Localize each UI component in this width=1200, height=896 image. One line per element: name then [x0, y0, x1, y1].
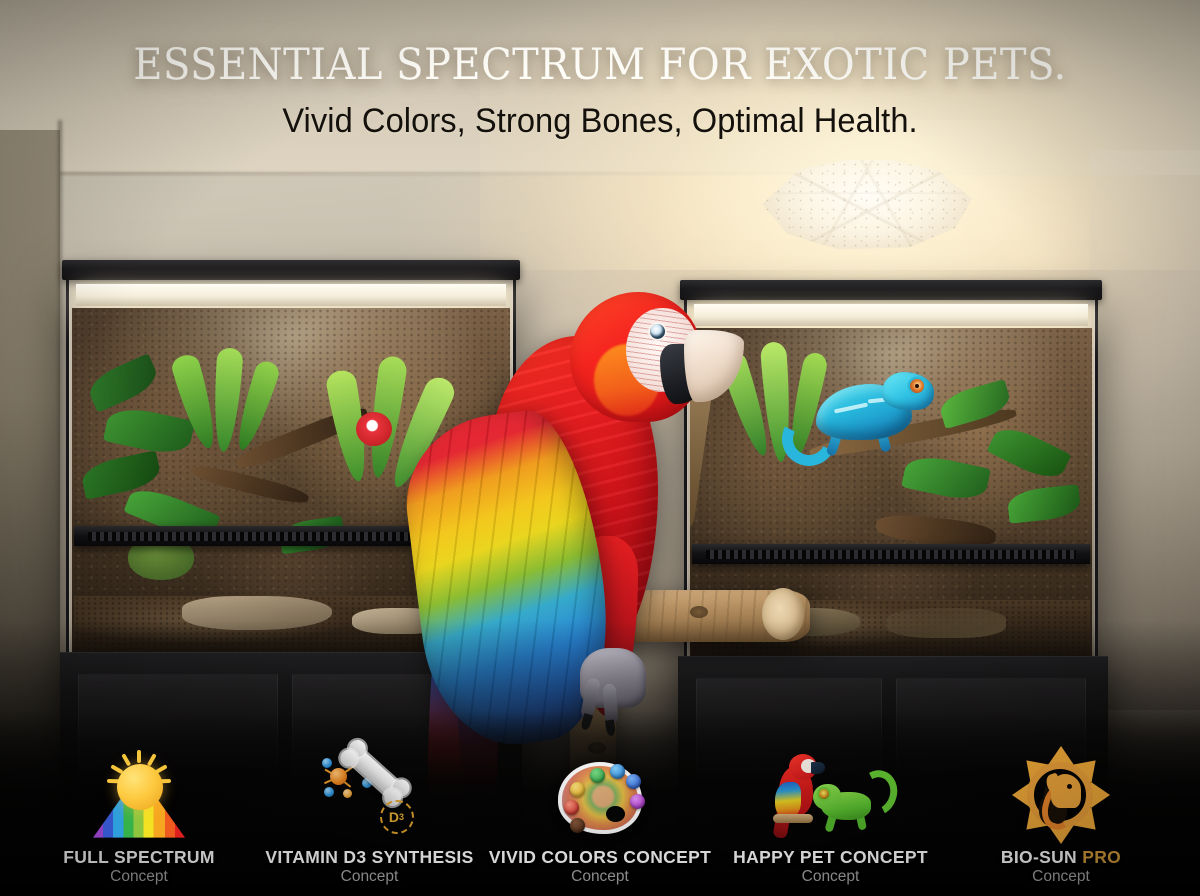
gecko-icon: [813, 774, 891, 836]
d3-badge: D3: [380, 800, 414, 834]
poster-stage: ESSENTIAL SPECTRUM FOR EXOTIC PETS. Vivi…: [0, 0, 1200, 896]
feature-subtitle: Concept: [948, 868, 1174, 886]
feature-title: BIO-SUN PRO: [948, 848, 1174, 866]
feature-subtitle: Concept: [718, 868, 944, 886]
paint-blob-green: [590, 768, 605, 783]
macaw-eye: [650, 324, 665, 339]
feature-full-spectrum[interactable]: FULL SPECTRUM Concept: [26, 746, 252, 886]
lamp-speckles: [762, 160, 972, 252]
brand-name: BIO-SUN: [1001, 847, 1082, 867]
sun-disc: [117, 764, 163, 810]
bromeliad-flower: [356, 412, 392, 446]
parrot-perch: [773, 814, 813, 823]
paint-blob-indigo: [626, 774, 641, 789]
right-terrarium-lamp-strip: [694, 304, 1088, 326]
logo-dog-eye: [1067, 784, 1072, 789]
gecko-eye: [819, 789, 829, 799]
feature-title: HAPPY PET CONCEPT: [718, 848, 944, 866]
feature-icon-slot: [26, 746, 252, 842]
paint-blob-magenta: [630, 794, 645, 809]
page-subtitle: Vivid Colors, Strong Bones, Optimal Heal…: [24, 102, 1176, 141]
palette-thumb-hole: [606, 806, 625, 822]
feature-vivid-colors[interactable]: VIVID COLORS CONCEPT Concept: [487, 746, 713, 886]
feature-happy-pet[interactable]: HAPPY PET CONCEPT Concept: [718, 746, 944, 886]
feature-icon-slot: [948, 746, 1174, 842]
bio-sun-pro-logo-icon: [1009, 748, 1113, 842]
feature-subtitle: Concept: [487, 868, 713, 886]
paint-blob-red: [564, 800, 579, 815]
left-terrarium-top-frame: [62, 260, 520, 280]
feature-icon-slot: D3: [257, 746, 483, 842]
paint-blob-blue: [610, 764, 625, 779]
atom-blue: [324, 787, 334, 797]
feature-subtitle: Concept: [257, 868, 483, 886]
full-spectrum-sun-icon: [87, 750, 191, 842]
feature-subtitle: Concept: [26, 868, 252, 886]
chameleon-eye: [910, 379, 924, 393]
logo-dog-silhouette: [1051, 774, 1081, 808]
parrot-wing: [775, 782, 801, 818]
vitamin-d3-bone-icon: D3: [318, 750, 422, 842]
ceiling-lamp-icon: [762, 160, 972, 252]
feature-icon-slot: [487, 746, 713, 842]
feature-icon-slot: [718, 746, 944, 842]
atom-blue: [322, 758, 332, 768]
right-terrarium-vent-bar: [692, 544, 1090, 564]
feature-bar: FULL SPECTRUM Concept: [0, 711, 1200, 896]
atom-orange: [343, 789, 352, 798]
happy-pet-parrot-gecko-icon: [769, 750, 893, 842]
feature-vitamin-d3[interactable]: D3 VITAMIN D3 SYNTHESIS Concept: [257, 746, 483, 886]
color-palette-icon: [548, 750, 652, 842]
chameleon-head: [882, 372, 934, 410]
brand-accent: PRO: [1082, 847, 1121, 867]
feature-title: VIVID COLORS CONCEPT: [487, 848, 713, 866]
parrot-beak: [811, 762, 825, 774]
paint-blob-yellow: [570, 782, 585, 797]
right-terrarium-top-frame: [680, 280, 1102, 300]
atom-orange: [330, 768, 347, 785]
feature-title: FULL SPECTRUM: [26, 848, 252, 866]
palette-body: [558, 762, 642, 834]
feature-title: VITAMIN D3 SYNTHESIS: [257, 848, 483, 866]
paint-blob-brown: [570, 818, 585, 833]
page-title: ESSENTIAL SPECTRUM FOR EXOTIC PETS.: [42, 40, 1158, 90]
feature-bio-sun-pro[interactable]: BIO-SUN PRO Concept: [948, 746, 1174, 886]
